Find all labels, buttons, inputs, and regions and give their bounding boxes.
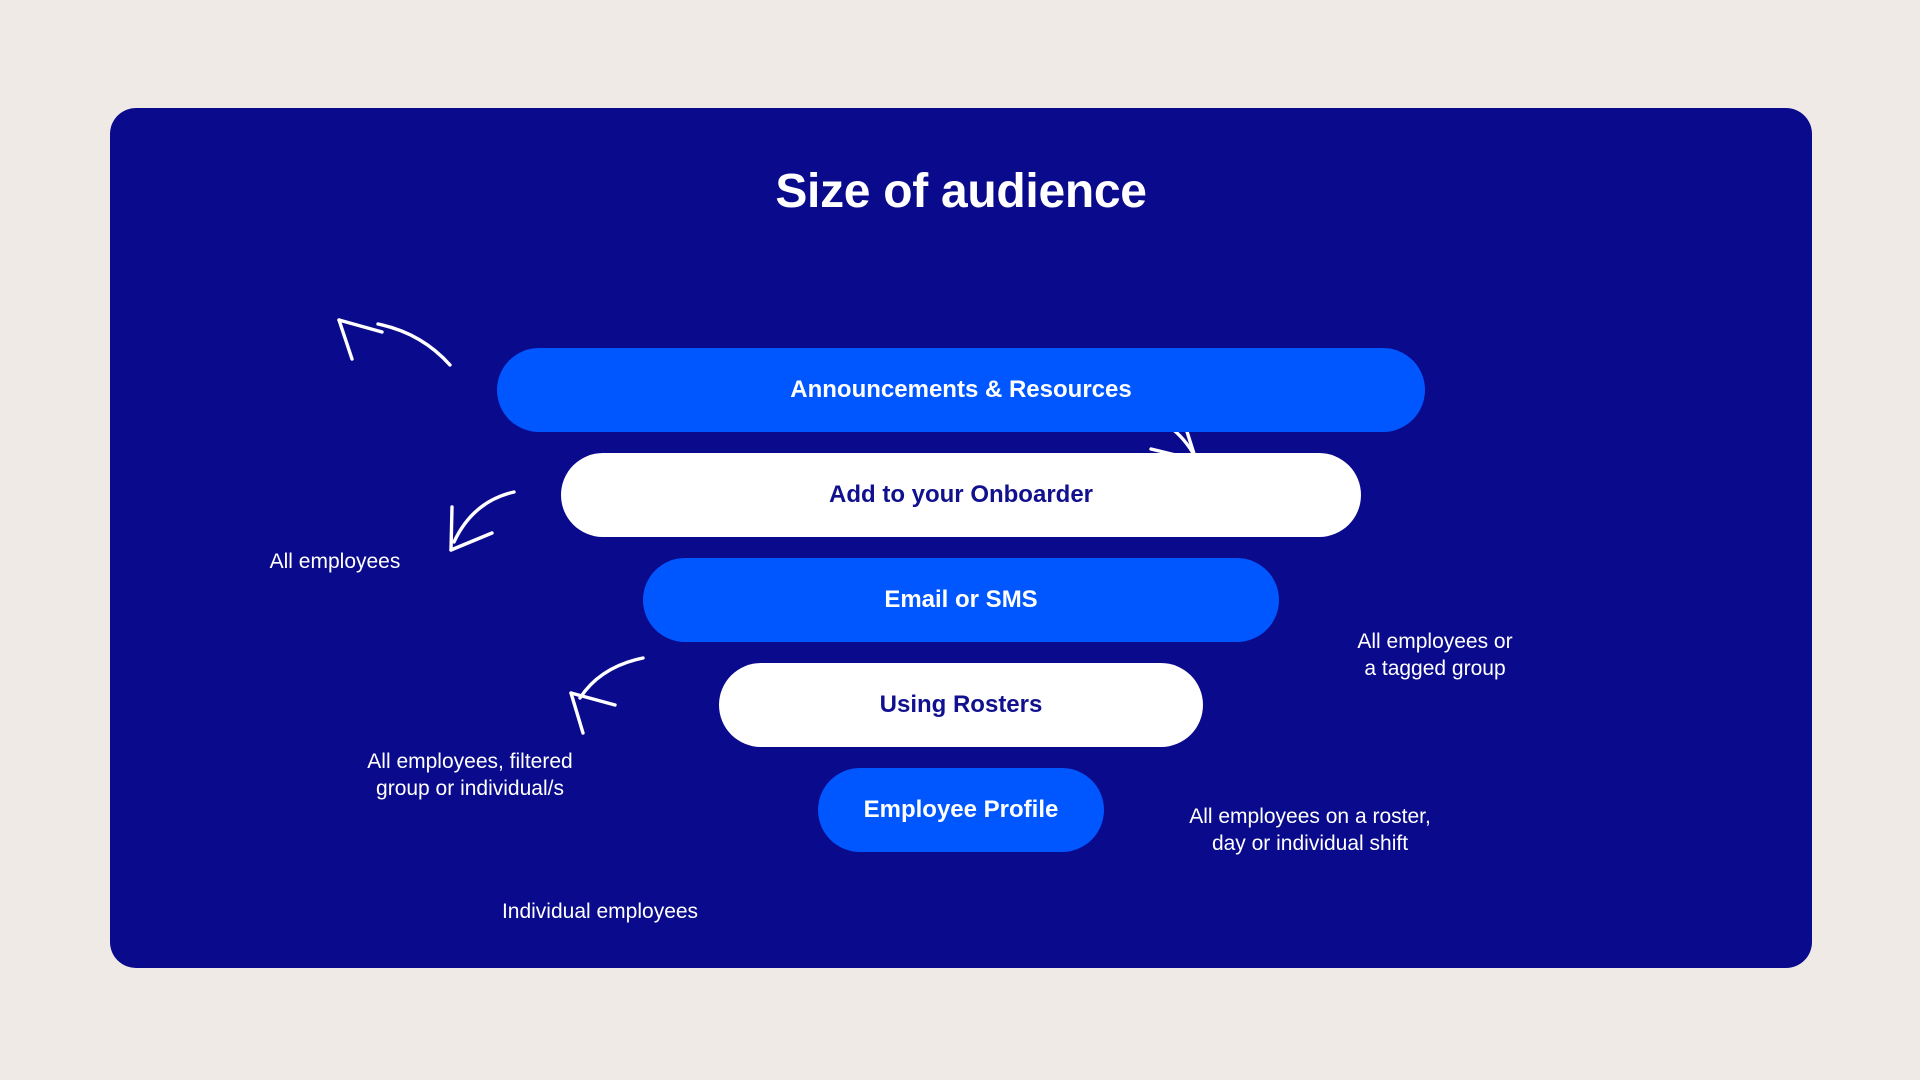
audience-card: Size of audience [110, 108, 1812, 968]
annotation-line: All employees or [1270, 628, 1600, 655]
annotation-line: All employees [170, 548, 500, 575]
annotation-rosters-audience: All employees on a roster, day or indivi… [1110, 803, 1510, 858]
page-root: Size of audience [0, 0, 1920, 1080]
annotation-line: Individual employees [400, 898, 800, 925]
curved-arrow-down-left-icon [571, 658, 643, 733]
curved-arrow-down-left-icon [451, 492, 514, 550]
funnel-pill-label: Add to your Onboarder [829, 481, 1093, 509]
annotation-line: All employees on a roster, [1110, 803, 1510, 830]
funnel-pill-label: Email or SMS [884, 586, 1037, 614]
funnel-pill-email-or-sms[interactable]: Email or SMS [643, 558, 1279, 642]
annotation-line: day or individual shift [1110, 830, 1510, 857]
funnel-pill-employee-profile[interactable]: Employee Profile [818, 768, 1104, 852]
annotation-announcements-audience: All employees [170, 548, 500, 575]
annotation-line: All employees, filtered [305, 748, 635, 775]
funnel-pill-label: Employee Profile [864, 796, 1059, 824]
annotation-employee-profile-audience: Individual employees [400, 898, 800, 925]
funnel-pill-label: Using Rosters [880, 691, 1043, 719]
curved-arrow-down-left-icon [339, 320, 450, 365]
annotation-email-sms-audience: All employees, filtered group or individ… [305, 748, 635, 803]
page-title: Size of audience [110, 168, 1812, 216]
annotation-line: a tagged group [1270, 655, 1600, 682]
funnel-pill-using-rosters[interactable]: Using Rosters [719, 663, 1203, 747]
annotation-line: group or individual/s [305, 775, 635, 802]
funnel-pill-announcements-resources[interactable]: Announcements & Resources [497, 348, 1425, 432]
annotation-onboarder-audience: All employees or a tagged group [1270, 628, 1600, 683]
funnel-pill-label: Announcements & Resources [790, 376, 1131, 404]
funnel-pill-add-to-your-onboarder[interactable]: Add to your Onboarder [561, 453, 1361, 537]
